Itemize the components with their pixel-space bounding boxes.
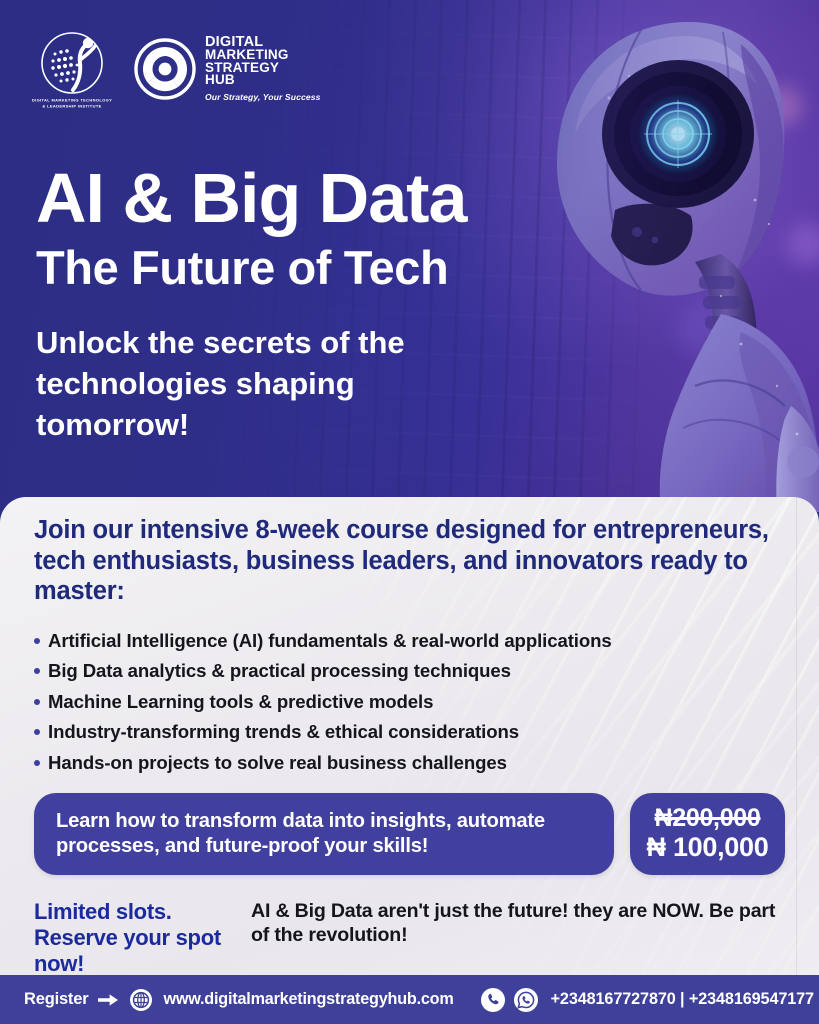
list-item-label: Machine Learning tools & predictive mode… — [48, 691, 433, 713]
list-item: Machine Learning tools & predictive mode… — [34, 691, 785, 713]
logo-lockup: DIGITAL MARKETING TECHNOLOGY & LEADERSHI… — [32, 30, 320, 108]
list-item: Big Data analytics & practical processin… — [34, 660, 785, 682]
page-subtitle: The Future of Tech — [36, 240, 466, 296]
hero-lead-text: Unlock the secrets of the technologies s… — [36, 322, 456, 445]
list-item-label: Artificial Intelligence (AI) fundamental… — [48, 630, 612, 652]
revolution-text: AI & Big Data aren't just the future! th… — [251, 899, 785, 976]
institute-logo: DIGITAL MARKETING TECHNOLOGY & LEADERSHI… — [32, 30, 112, 108]
website-link[interactable]: www.digitalmarketingstrategyhub.com — [163, 990, 453, 1009]
contact-footer: Register www.digitalmarketingstrategyhub… — [0, 975, 819, 1024]
list-item: Industry-transforming trends & ethical c… — [34, 721, 785, 743]
list-item-label: Industry-transforming trends & ethical c… — [48, 721, 519, 743]
course-topics-list: Artificial Intelligence (AI) fundamental… — [0, 630, 819, 774]
cta-banner: Learn how to transform data into insight… — [34, 793, 614, 875]
limited-slots-text: Limited slots. Reserve your spot now! — [34, 899, 229, 976]
offer-row: Learn how to transform data into insight… — [0, 793, 819, 875]
page-title: AI & Big Data — [36, 160, 466, 236]
hub-logo: DIGITAL MARKETING STRATEGY HUB Our Strat… — [134, 36, 320, 101]
bullet-dot-icon — [34, 729, 40, 735]
whatsapp-icon[interactable] — [514, 988, 538, 1012]
register-label: Register — [24, 990, 88, 1009]
new-price: ₦ 100,000 — [647, 832, 769, 863]
globe-icon — [130, 989, 152, 1011]
cta-text: Learn how to transform data into insight… — [56, 809, 592, 859]
flyer-poster: DIGITAL MARKETING TECHNOLOGY & LEADERSHI… — [0, 0, 819, 1024]
hero-section: DIGITAL MARKETING TECHNOLOGY & LEADERSHI… — [0, 0, 819, 512]
list-item: Hands-on projects to solve real business… — [34, 752, 785, 774]
phone-numbers[interactable]: +2348167727870 | +2348169547177 — [551, 990, 814, 1009]
institute-logo-caption: DIGITAL MARKETING TECHNOLOGY & LEADERSHI… — [32, 98, 112, 109]
closing-row: Limited slots. Reserve your spot now! AI… — [0, 899, 819, 976]
hero-text-block: AI & Big Data The Future of Tech Unlock … — [36, 160, 466, 445]
list-item-label: Big Data analytics & practical processin… — [48, 660, 511, 682]
bullet-dot-icon — [34, 668, 40, 674]
old-price: ₦200,000 — [654, 804, 760, 832]
globe-figure-logo-icon — [39, 30, 105, 96]
hub-logo-name: DIGITAL MARKETING STRATEGY HUB — [205, 36, 320, 86]
list-item: Artificial Intelligence (AI) fundamental… — [34, 630, 785, 652]
dmsh-circle-logo-icon — [134, 38, 196, 100]
hub-logo-tagline: Our Strategy, Your Success — [205, 92, 320, 102]
price-badge: ₦200,000 ₦ 100,000 — [630, 793, 785, 875]
bullet-dot-icon — [34, 699, 40, 705]
bullet-dot-icon — [34, 638, 40, 644]
arrow-right-icon — [98, 993, 118, 1007]
list-item-label: Hands-on projects to solve real business… — [48, 752, 507, 774]
phone-icon[interactable] — [481, 988, 505, 1012]
content-panel: Join our intensive 8-week course designe… — [0, 497, 819, 975]
bullet-dot-icon — [34, 760, 40, 766]
course-intro-text: Join our intensive 8-week course designe… — [0, 515, 819, 607]
